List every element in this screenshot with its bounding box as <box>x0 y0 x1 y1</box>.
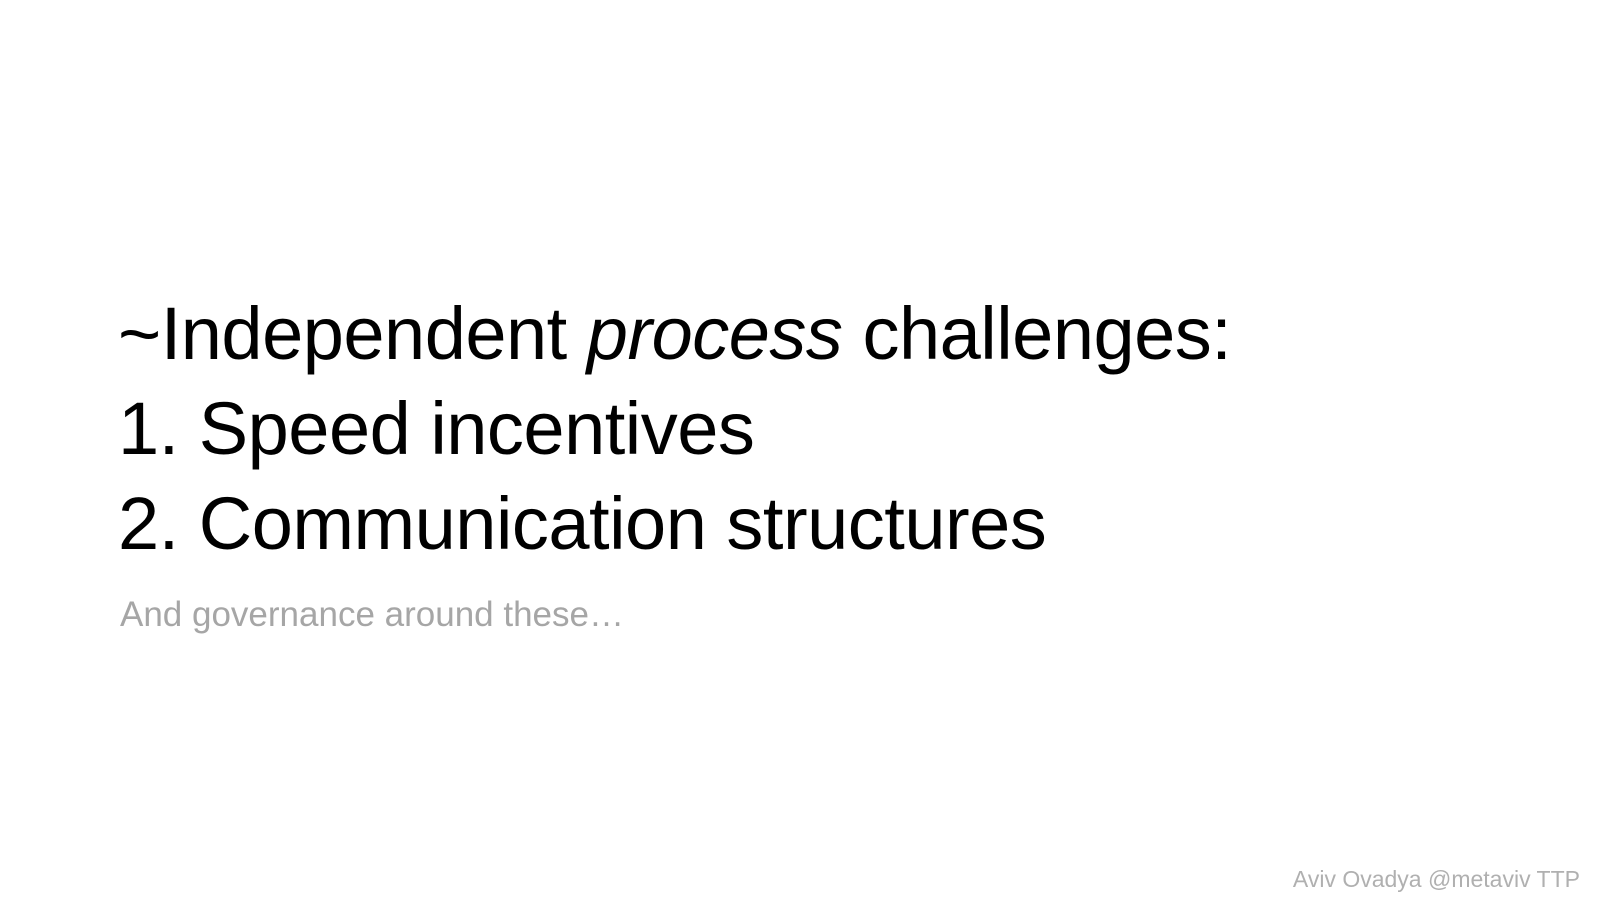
headline-line-2: 1. Speed incentives <box>118 381 1478 476</box>
headline-line-3: 2. Communication structures <box>118 476 1478 571</box>
presentation-slide: ~Independent process challenges: 1. Spee… <box>0 0 1600 900</box>
headline-line-1-suffix: challenges: <box>842 292 1231 375</box>
slide-body-text: ~Independent process challenges: 1. Spee… <box>118 286 1478 571</box>
headline-line-1: ~Independent process challenges: <box>118 286 1478 381</box>
slide-subtitle: And governance around these… <box>120 592 624 638</box>
headline-line-1-emphasis: process <box>587 292 843 375</box>
headline-line-1-prefix: ~Independent <box>118 292 587 375</box>
footer-credit: Aviv Ovadya @metaviv TTP <box>1293 864 1580 894</box>
